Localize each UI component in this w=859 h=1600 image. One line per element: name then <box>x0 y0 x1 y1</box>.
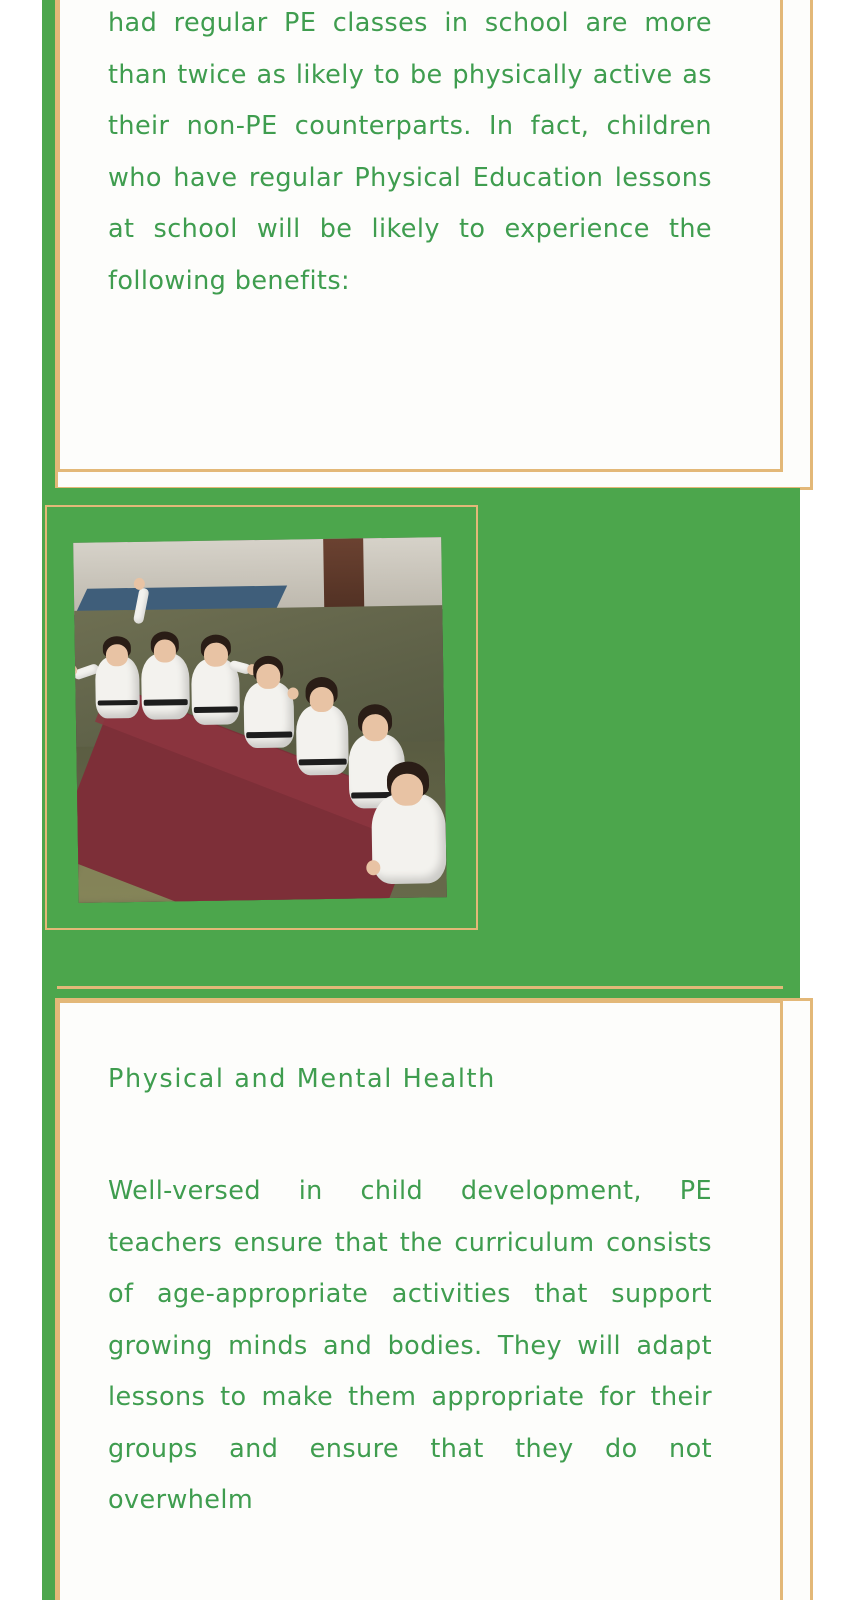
band-bottom-gold-line <box>57 986 783 989</box>
judo-class-photo <box>73 537 447 903</box>
left-green-accent-bar <box>42 0 56 490</box>
intro-paragraph: had regular PE classes in school are mor… <box>108 0 712 307</box>
left-green-accent-bar <box>42 1000 56 1600</box>
section-heading: Physical and Mental Health <box>108 1064 748 1094</box>
document-page: had regular PE classes in school are mor… <box>0 0 859 1600</box>
section-paragraph: Well-versed in child development, PE tea… <box>108 1166 712 1527</box>
judo-scene-art <box>73 537 447 903</box>
physical-mental-health-card: Physical and Mental Health Well-versed i… <box>0 994 859 1600</box>
photo-gallery-band: SGAS 21 21 <box>0 488 859 1000</box>
pe-benefits-intro-card: had regular PE classes in school are mor… <box>0 0 859 490</box>
